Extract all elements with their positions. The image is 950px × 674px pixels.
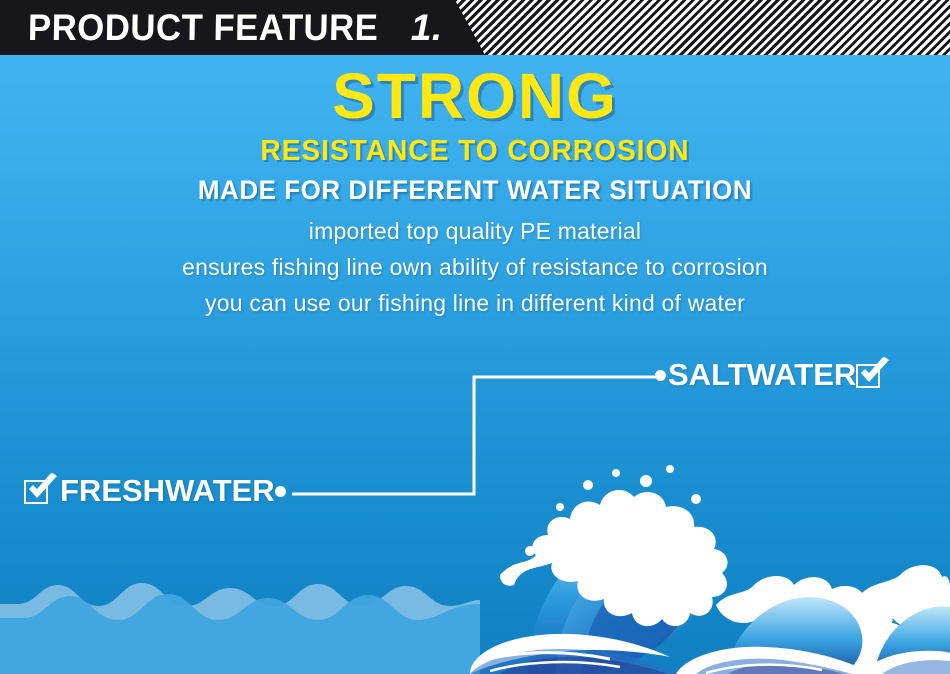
header-title-number: 1.: [411, 7, 443, 49]
checkbox-checked-icon: [856, 361, 884, 389]
foam-fleck: [556, 503, 564, 511]
header-title-main: PRODUCT FEATURE: [28, 7, 379, 49]
checkbox-checked-icon: [24, 477, 52, 505]
body-line-1: imported top quality PE material: [0, 213, 950, 249]
foam-fleck: [525, 546, 535, 556]
body-line-2: ensures fishing line own ability of resi…: [0, 249, 950, 285]
check-mark-icon: [858, 357, 890, 389]
check-mark-icon: [26, 473, 58, 505]
connector-dot-icon: [655, 370, 666, 381]
body-line-3: you can use our fishing line in differen…: [0, 285, 950, 321]
ocean-wave-illustration: [470, 455, 950, 674]
freshwater-label-text: FRESHWATER: [60, 474, 275, 508]
wave-foam-crest-left: [500, 490, 728, 626]
header-bar: PRODUCT FEATURE1.: [0, 0, 950, 55]
headline-block: STRONG RESISTANCE TO CORROSION MADE FOR …: [0, 60, 950, 321]
headline-made-for: MADE FOR DIFFERENT WATER SITUATION: [19, 173, 931, 207]
flat-wave-decoration: [0, 560, 480, 674]
freshwater-label: FRESHWATER: [24, 474, 286, 508]
saltwater-label-text: SALTWATER: [668, 358, 856, 392]
headline-resistance: RESISTANCE TO CORROSION: [14, 134, 936, 168]
foam-fleck: [666, 465, 674, 473]
headline-strong: STRONG: [0, 60, 950, 132]
header-title: PRODUCT FEATURE1.: [28, 7, 443, 49]
product-feature-banner: PRODUCT FEATURE1.: [0, 0, 950, 674]
foam-fleck: [583, 480, 593, 490]
connector-dot-icon: [275, 486, 286, 497]
foam-fleck: [612, 469, 620, 477]
foam-fleck: [691, 494, 701, 504]
saltwater-label: SALTWATER: [655, 358, 884, 392]
foam-fleck: [640, 475, 652, 487]
